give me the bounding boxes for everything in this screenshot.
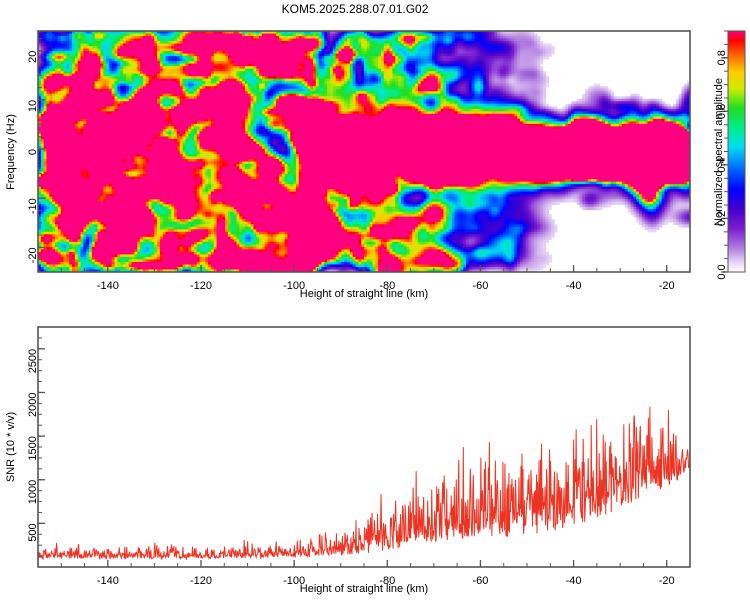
figure-title: KOM5.2025.288.07.01.G02: [282, 2, 429, 16]
snr-ylabel: SNR (10 * v/v): [5, 412, 17, 482]
spectrogram-xlabel: Height of straight line (km): [300, 288, 428, 300]
colorbar-label: Normalized spectral amplitude: [713, 78, 725, 226]
spectrogram-ylabel: Frequency (Hz): [5, 114, 17, 190]
snr-xlabel: Height of straight line (km): [300, 583, 428, 595]
figure-canvas: KOM5.2025.288.07.01.G02 -140-120-100-80-…: [0, 0, 750, 600]
colorbar-gradient: [728, 31, 745, 272]
